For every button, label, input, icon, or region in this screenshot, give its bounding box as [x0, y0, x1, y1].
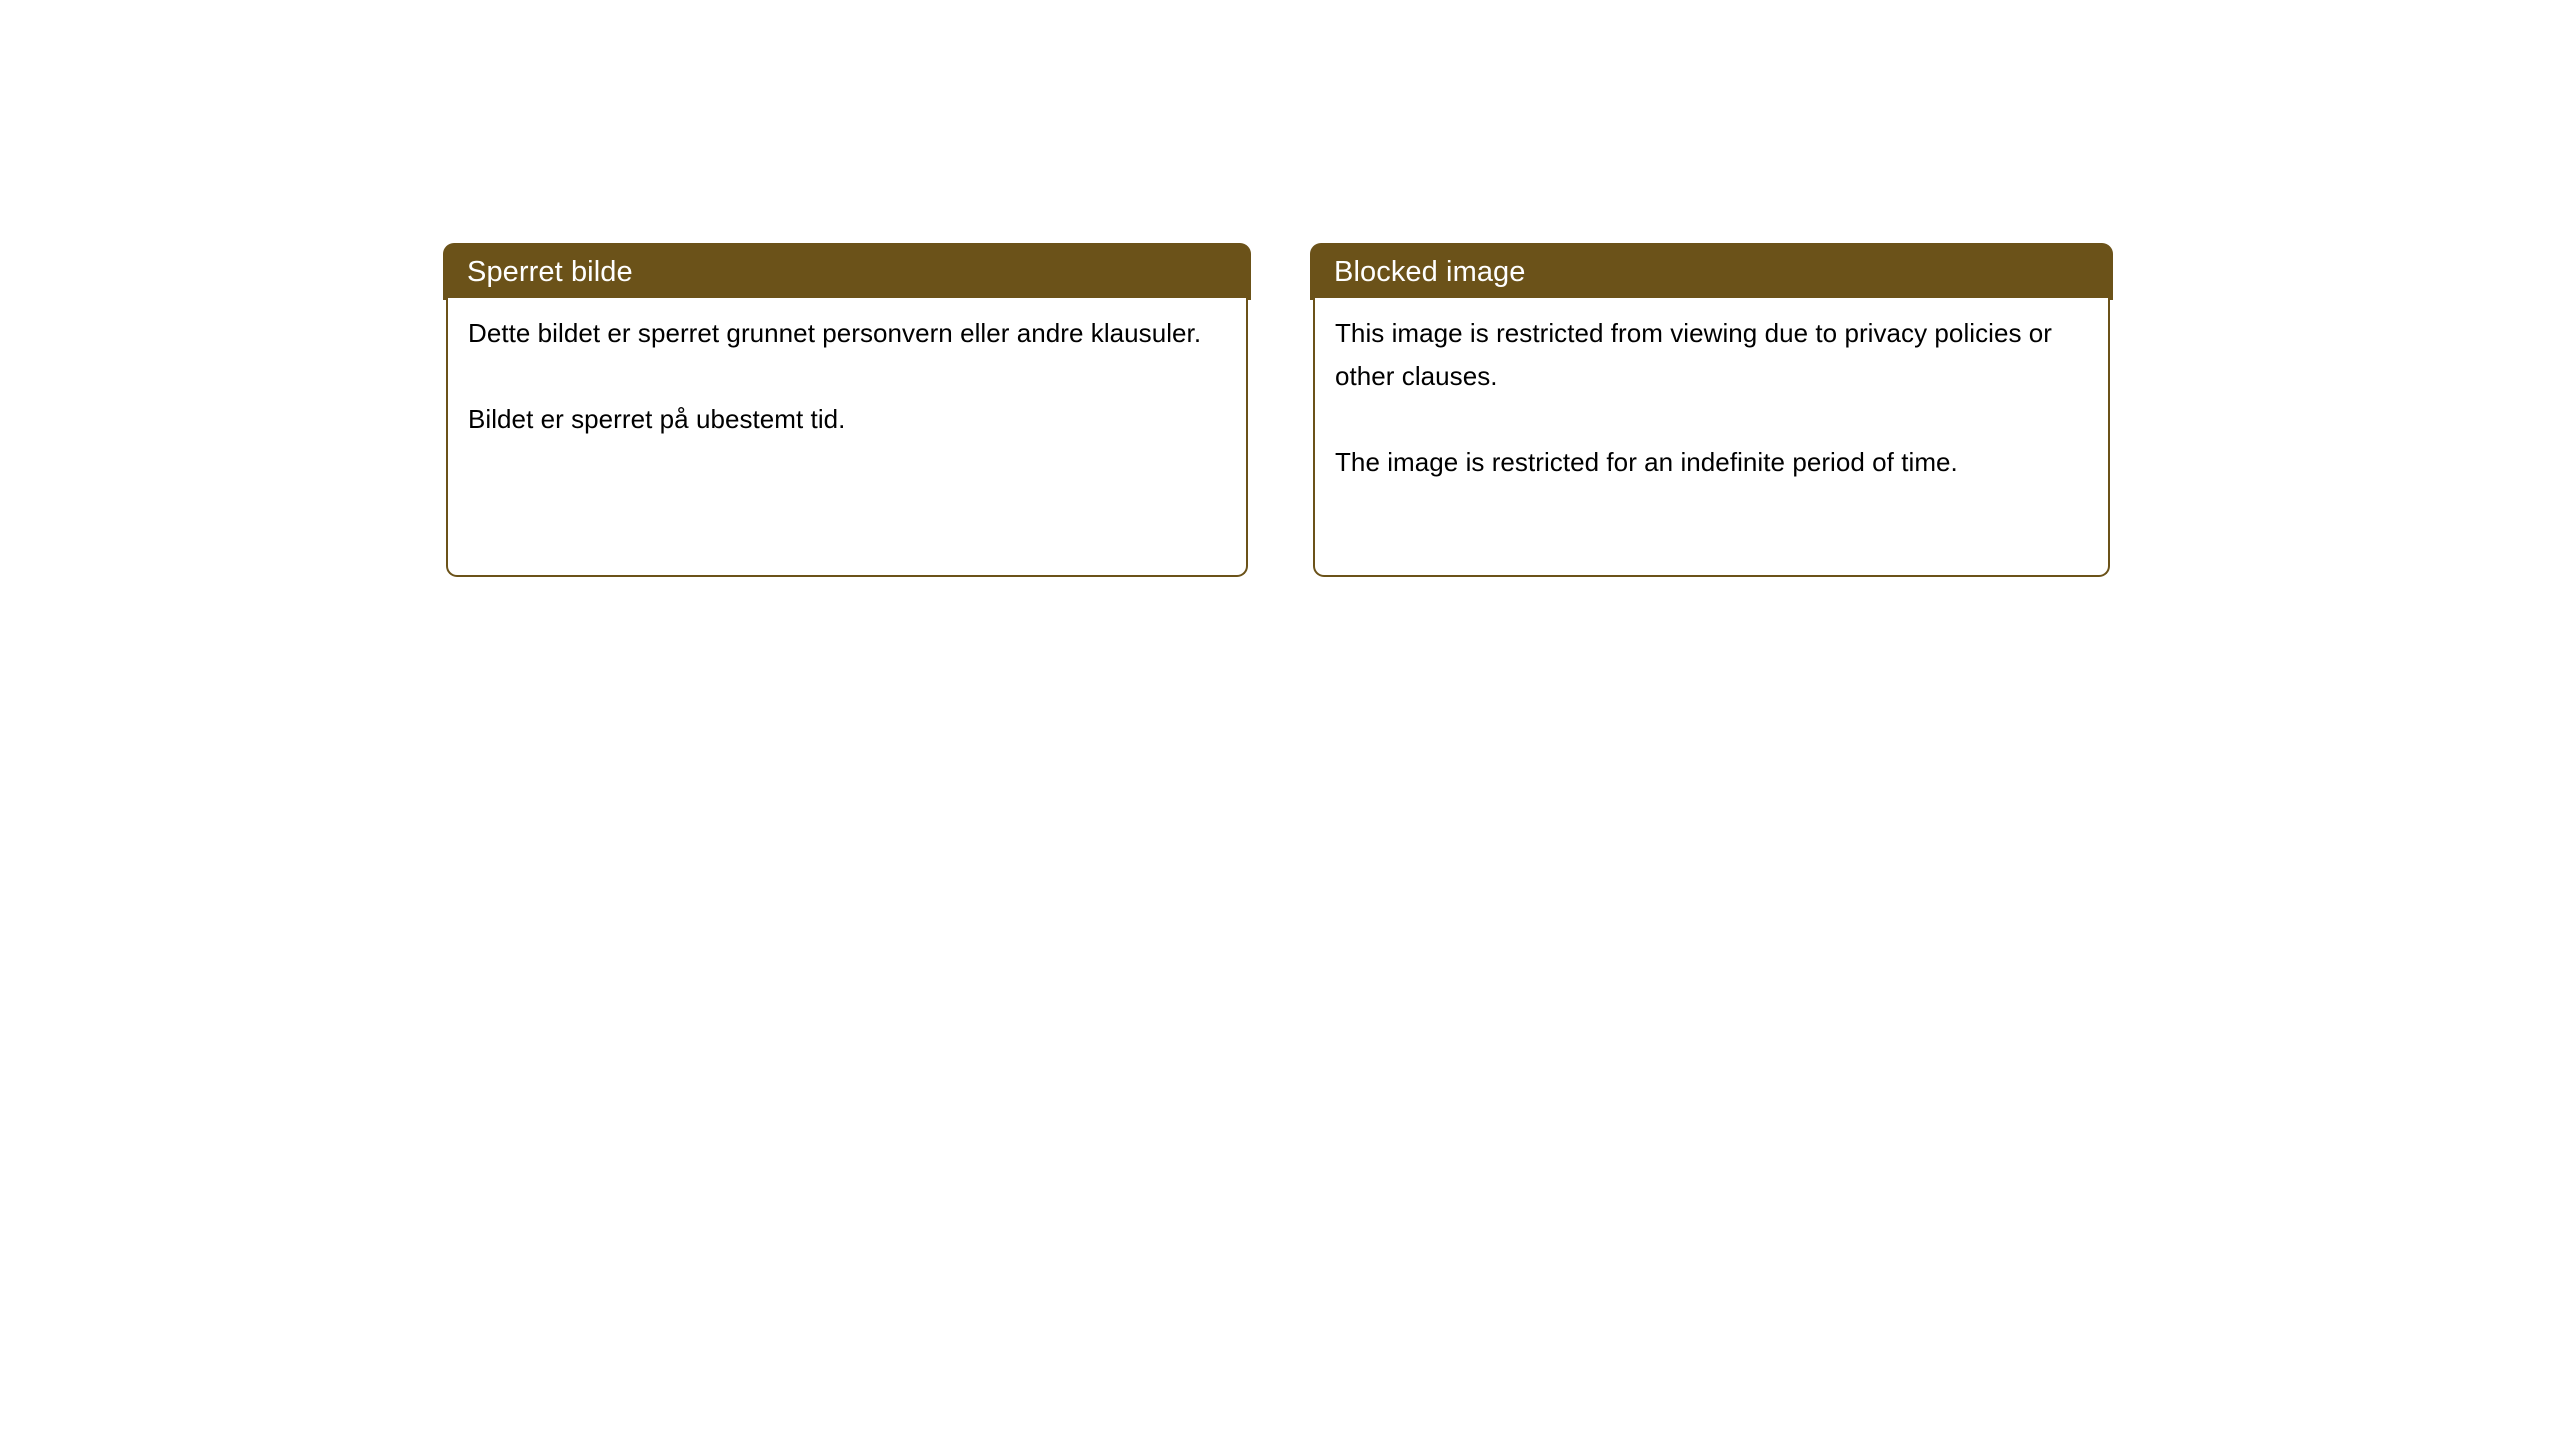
- notice-card-header: Sperret bilde: [443, 243, 1251, 300]
- notice-card-title: Blocked image: [1334, 255, 1526, 289]
- blocked-image-notice-card-english: Blocked image This image is restricted f…: [1310, 243, 2113, 577]
- page-canvas: Sperret bilde Dette bildet er sperret gr…: [0, 0, 2560, 1440]
- notice-card-title: Sperret bilde: [467, 255, 633, 289]
- notice-card-paragraph-secondary: The image is restricted for an indefinit…: [1335, 441, 2088, 484]
- notice-card-body: This image is restricted from viewing du…: [1313, 298, 2110, 577]
- blocked-image-notice-card-norwegian: Sperret bilde Dette bildet er sperret gr…: [443, 243, 1251, 577]
- notice-card-body: Dette bildet er sperret grunnet personve…: [446, 298, 1248, 577]
- notice-card-paragraph-primary: This image is restricted from viewing du…: [1335, 312, 2088, 398]
- notice-card-paragraph-secondary: Bildet er sperret på ubestemt tid.: [468, 398, 1226, 441]
- notice-card-paragraph-primary: Dette bildet er sperret grunnet personve…: [468, 312, 1226, 355]
- notice-card-header: Blocked image: [1310, 243, 2113, 300]
